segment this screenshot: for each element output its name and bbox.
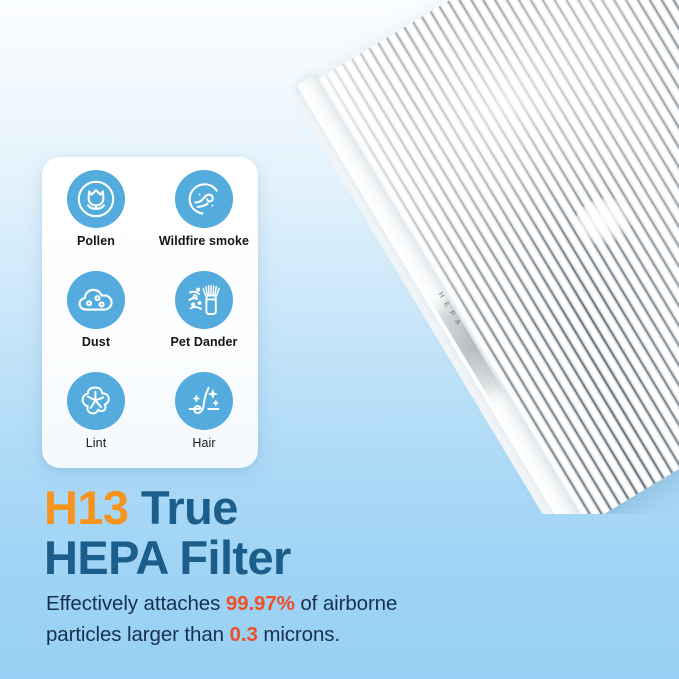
allergen-label: Hair [192, 437, 215, 450]
stat-efficiency: 99.97% [226, 592, 295, 615]
allergen-item-pet-dander: Pet Dander [150, 271, 258, 372]
stat-micron-size: 0.3 [230, 623, 258, 646]
headline-block: H13 True HEPA Filter [44, 483, 644, 584]
hepa-filter-photo: H E P A [252, 0, 679, 514]
allergen-label: Wildfire smoke [159, 235, 249, 248]
allergen-item-dust: Dust [42, 271, 150, 372]
smoke-swirl-icon [175, 170, 233, 228]
sub-copy-line-1: Effectively attaches 99.97% of airborne [46, 588, 646, 619]
sub-copy-line-2: particles larger than 0.3 microns. [46, 619, 646, 650]
allergen-item-wildfire-smoke: Wildfire smoke [150, 170, 258, 271]
filter-scuff-highlight [570, 192, 637, 250]
product-marketing-image: H E P A Pollen [0, 0, 679, 679]
allergen-item-lint: Lint [42, 372, 150, 473]
allergen-label: Pet Dander [171, 336, 238, 349]
filter-frame-outer [293, 93, 571, 514]
filter-pleats [312, 0, 679, 514]
filter-emboss-shadow [432, 294, 506, 403]
headline-line-1: H13 True [44, 483, 644, 533]
hair-follicle-icon [175, 372, 233, 430]
sub-copy: Effectively attaches 99.97% of airborne … [46, 588, 646, 650]
sub-copy-text-1: Effectively attaches [46, 592, 226, 615]
filter-sheen [312, 0, 679, 514]
allergen-card: Pollen Wildfire smoke [42, 157, 258, 468]
allergen-label: Pollen [77, 235, 115, 248]
allergen-label: Lint [86, 437, 107, 450]
allergen-item-pollen: Pollen [42, 170, 150, 271]
headline-grade: H13 [44, 481, 128, 534]
flower-pollen-icon [67, 170, 125, 228]
pet-brush-icon [175, 271, 233, 329]
filter-highlight [312, 0, 679, 514]
allergen-label: Dust [82, 336, 110, 349]
filter-frame-edge [296, 74, 589, 514]
allergen-item-hair: Hair [150, 372, 258, 473]
dust-cloud-icon [67, 271, 125, 329]
sub-copy-text-4: microns. [258, 623, 340, 646]
filter-emboss-text: H E P A [431, 291, 463, 331]
headline-line-2: HEPA Filter [44, 533, 644, 583]
sub-copy-text-3: particles larger than [46, 623, 230, 646]
headline-true: True [141, 481, 238, 534]
allergen-icon-grid: Pollen Wildfire smoke [42, 170, 258, 473]
filter-body: H E P A [312, 0, 679, 514]
cotton-lint-icon [67, 372, 125, 430]
sub-copy-text-2: of airborne [295, 592, 398, 615]
